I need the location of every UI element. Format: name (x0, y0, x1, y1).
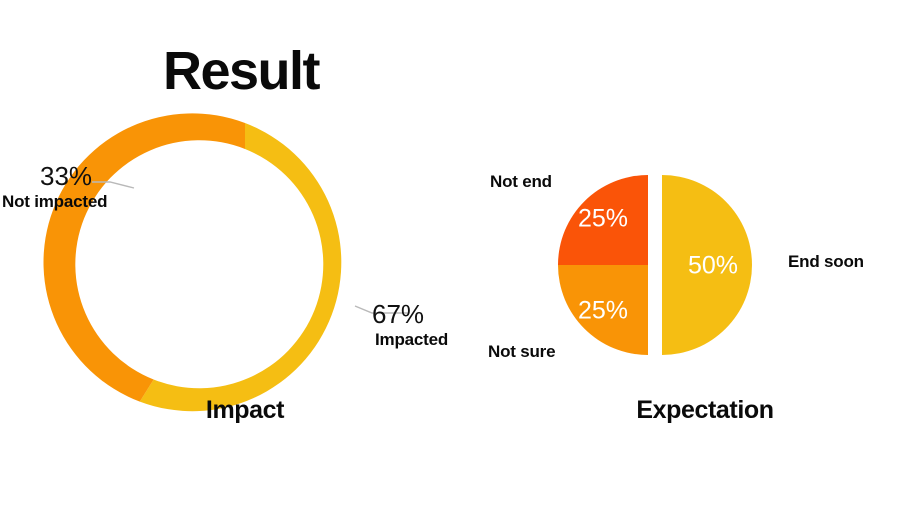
pie-label-not-sure: Not sure (488, 342, 555, 362)
impact-chart-caption: Impact (145, 396, 345, 425)
callout-impacted-percent: 67% (372, 300, 448, 329)
donut-slice-impacted[interactable] (140, 123, 342, 411)
callout-not-impacted-percent: 33% (40, 162, 107, 191)
pie-value-end-soon: 50% (688, 252, 738, 280)
expectation-chart-block: 25% 25% 50% Not end Not sure End soon Ex… (455, 100, 900, 460)
callout-not-impacted-label: Not impacted (2, 191, 107, 212)
pie-label-end-soon: End soon (788, 252, 864, 272)
expectation-chart-caption: Expectation (555, 396, 855, 425)
pie-label-not-end: Not end (490, 172, 552, 192)
page-title: Result (163, 44, 319, 98)
impact-chart-block: 33% Not impacted 67% Impacted Impact (0, 100, 500, 460)
slide-canvas: Result 33% Not impacted 67% Impacted Imp… (0, 0, 900, 506)
impact-donut-chart (0, 100, 500, 400)
pie-value-not-sure: 25% (578, 297, 628, 325)
callout-impacted: 67% Impacted (372, 300, 448, 350)
pie-value-not-end: 25% (578, 205, 628, 233)
callout-impacted-label: Impacted (375, 329, 448, 350)
donut-slice-not-impacted[interactable] (43, 113, 245, 401)
callout-not-impacted: 33% Not impacted (2, 162, 107, 212)
